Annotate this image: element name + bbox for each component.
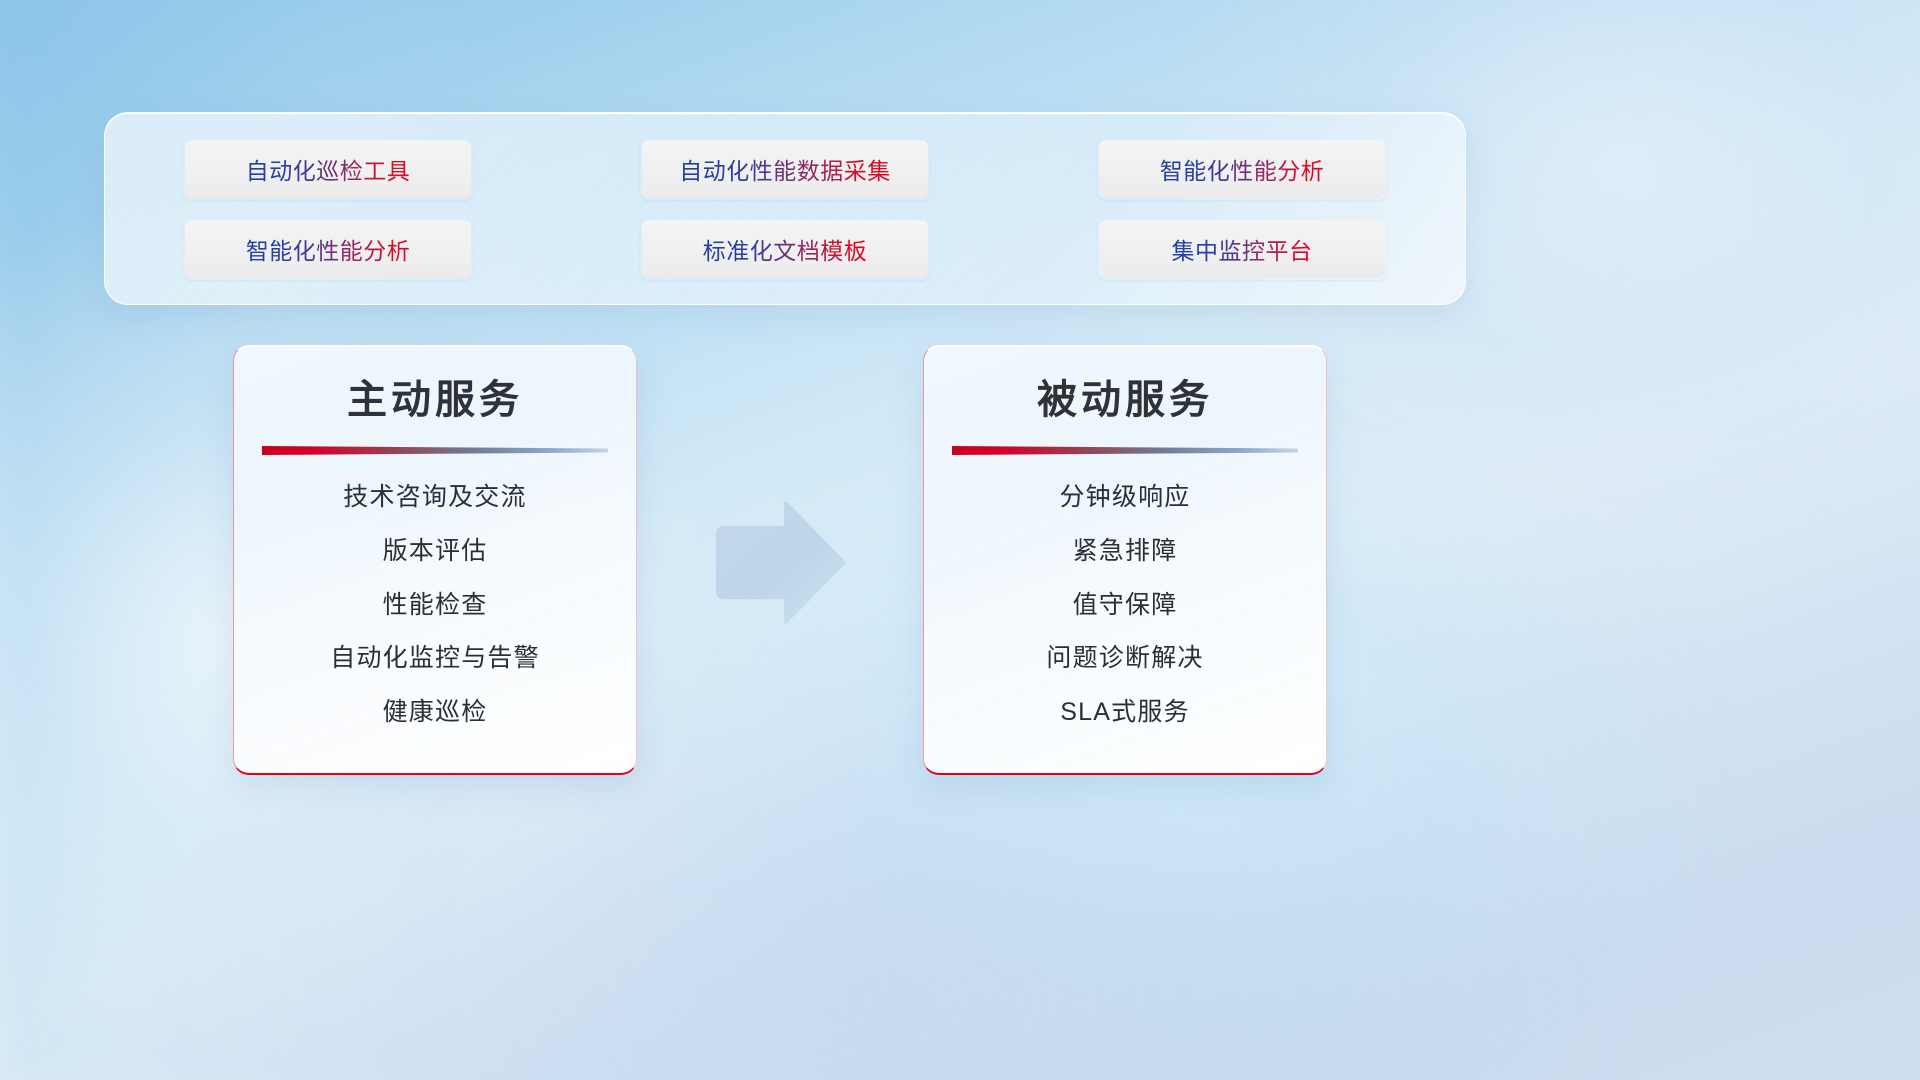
list-item: 自动化监控与告警 bbox=[330, 642, 540, 676]
capability-chip-intelligent-performance-analysis-2[interactable]: 智能化性能分析 bbox=[183, 218, 473, 280]
list-item: SLA式服务 bbox=[1060, 696, 1189, 730]
card-divider bbox=[262, 444, 608, 457]
service-card-passive: 被动服务 分钟级响应 紧急排障 值守保障 问题诊断解决 SLA式服务 bbox=[923, 345, 1327, 775]
card-title: 主动服务 bbox=[347, 376, 523, 424]
card-item-list: 技术咨询及交流 版本评估 性能检查 自动化监控与告警 健康巡检 bbox=[258, 481, 612, 730]
capability-chip-label: 集中监控平台 bbox=[1172, 232, 1313, 266]
list-item: 版本评估 bbox=[383, 535, 488, 569]
capability-chip-label: 自动化巡检工具 bbox=[246, 152, 411, 186]
list-item: 问题诊断解决 bbox=[1046, 642, 1203, 676]
list-item: 健康巡检 bbox=[383, 696, 488, 730]
capability-chip-label: 自动化性能数据采集 bbox=[679, 152, 891, 186]
capabilities-row-1: 自动化巡检工具 自动化性能数据采集 智能化性能分析 bbox=[183, 138, 1387, 200]
card-divider bbox=[952, 444, 1298, 457]
capabilities-panel: 自动化巡检工具 自动化性能数据采集 智能化性能分析 智能化性能分析 标准化文档模… bbox=[104, 112, 1466, 305]
capability-chip-label: 智能化性能分析 bbox=[1160, 152, 1325, 186]
capabilities-row-2: 智能化性能分析 标准化文档模板 集中监控平台 bbox=[183, 218, 1387, 280]
list-item: 技术咨询及交流 bbox=[343, 481, 526, 515]
capability-chip-automated-performance-data-collection[interactable]: 自动化性能数据采集 bbox=[640, 138, 930, 200]
card-title: 被动服务 bbox=[1037, 376, 1213, 424]
service-card-active: 主动服务 技术咨询及交流 版本评估 性能检查 自动化监控与告警 健康巡检 bbox=[233, 345, 637, 775]
capability-chip-centralized-monitoring-platform[interactable]: 集中监控平台 bbox=[1097, 218, 1387, 280]
capability-chip-label: 标准化文档模板 bbox=[703, 232, 868, 266]
capability-chip-automated-inspection-tool[interactable]: 自动化巡检工具 bbox=[183, 138, 473, 200]
list-item: 分钟级响应 bbox=[1059, 481, 1190, 515]
list-item: 性能检查 bbox=[383, 589, 488, 623]
capability-chip-standardized-document-template[interactable]: 标准化文档模板 bbox=[640, 218, 930, 280]
list-item: 值守保障 bbox=[1073, 589, 1178, 623]
capability-chip-intelligent-performance-analysis[interactable]: 智能化性能分析 bbox=[1097, 138, 1387, 200]
list-item: 紧急排障 bbox=[1073, 535, 1178, 569]
arrow-right-icon bbox=[712, 500, 848, 624]
card-item-list: 分钟级响应 紧急排障 值守保障 问题诊断解决 SLA式服务 bbox=[948, 481, 1302, 730]
capability-chip-label: 智能化性能分析 bbox=[246, 232, 411, 266]
